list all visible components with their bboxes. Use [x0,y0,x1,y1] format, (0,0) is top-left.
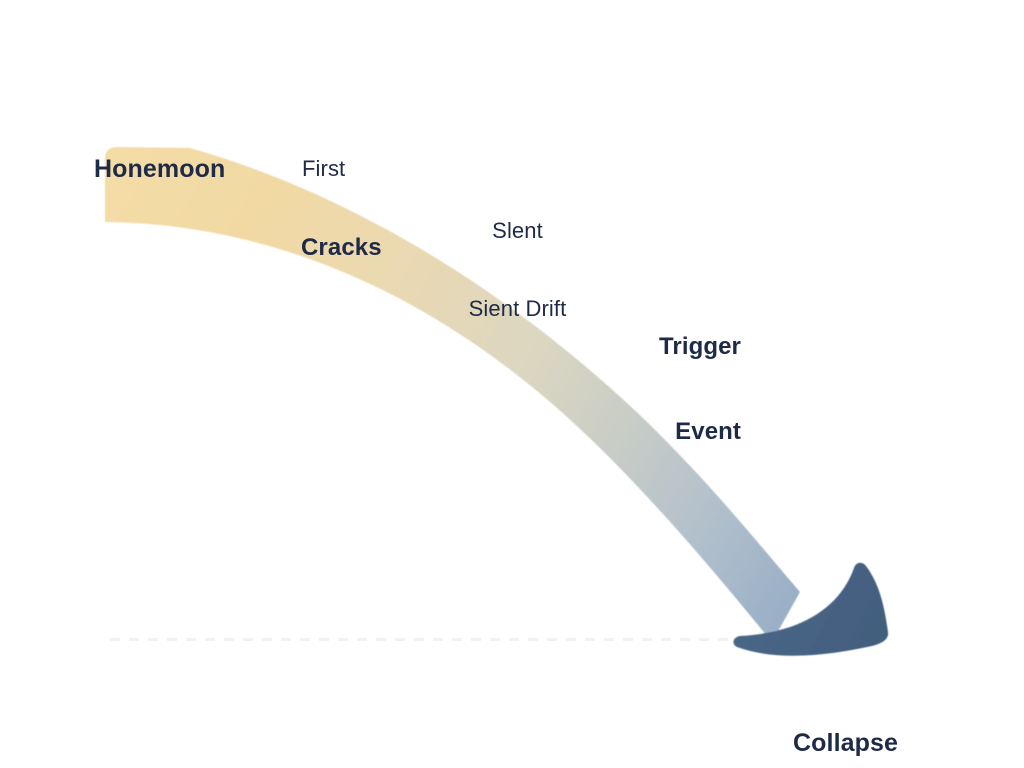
silent-text-line1: Slent [455,218,580,244]
stage-label-collapse: Collapse [793,670,898,768]
honeymoon-text: Honemoon [94,155,225,185]
diagram-canvas: Honemoon First Cracks Slent Sient Drift … [0,0,1024,768]
stage-label-trigger-event: Trigger Event [545,276,741,503]
stage-label-honeymoon: Honemoon [94,96,225,244]
trigger-text: Trigger [545,333,741,361]
event-text: Event [545,418,741,446]
stage-label-first-cracks: First Cracks [302,104,382,314]
collapse-text: Collapse [793,729,898,759]
cracks-text: Cracks [301,234,382,262]
first-text: First [302,156,382,182]
